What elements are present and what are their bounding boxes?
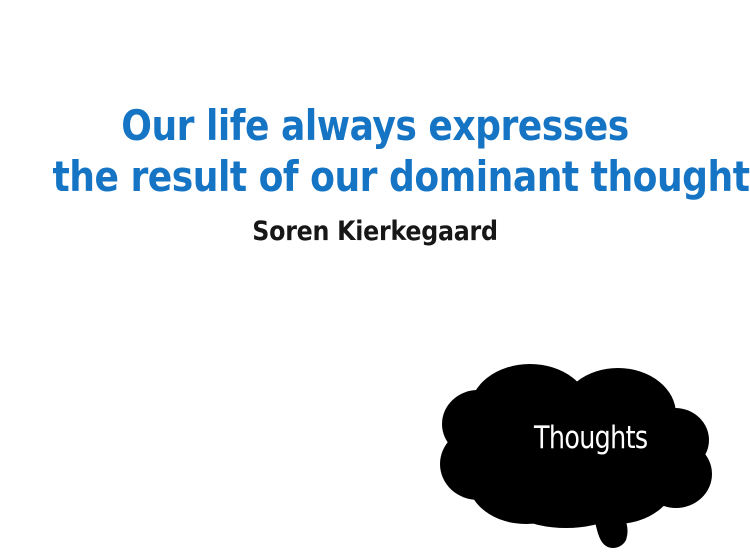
quote-line-2: the result of our dominant thoughts. [53, 151, 698, 202]
quote-line-1: Our life always expresses [53, 100, 698, 151]
thought-bubble [430, 348, 725, 553]
quote-text: Our life always expresses the result of … [0, 100, 750, 202]
slide-canvas: Our life always expresses the result of … [0, 0, 750, 560]
thought-bubble-icon [430, 348, 725, 553]
quote-author: Soren Kierkegaard [45, 216, 705, 248]
